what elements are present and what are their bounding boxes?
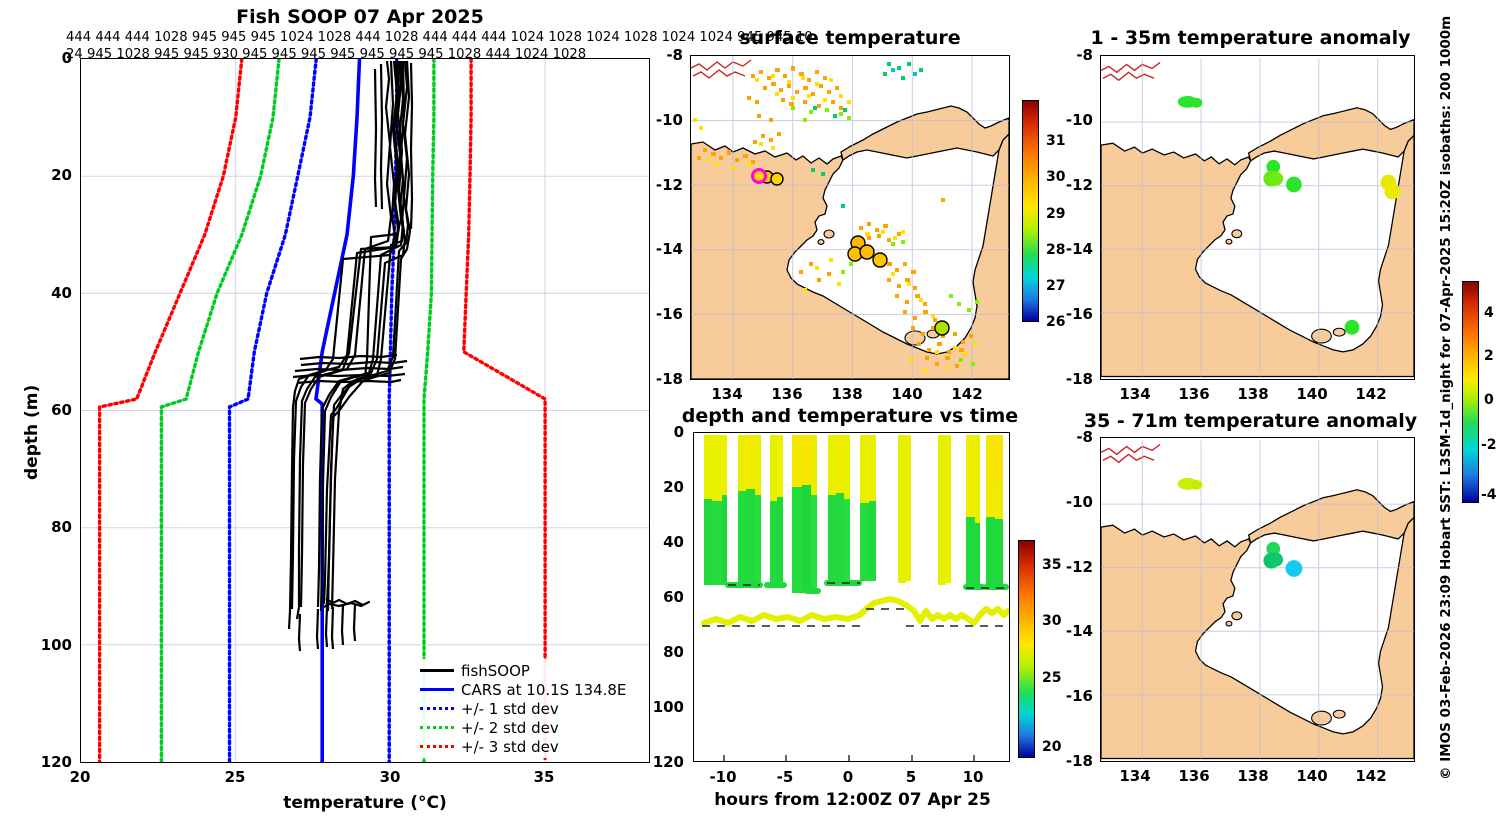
- anom-upper-ytick--10: -10: [1045, 111, 1093, 129]
- legend-item-std2: +/- 2 std dev: [420, 718, 638, 737]
- sst-panel-title: surface temperature: [690, 27, 1010, 49]
- depth-temperature-time-panel[interactable]: [693, 432, 1010, 762]
- time-xtick-10: 10: [956, 768, 990, 786]
- time-ytick-40: 40: [640, 533, 684, 551]
- time-ytick-60: 60: [640, 588, 684, 606]
- time-colorbar[interactable]: [1018, 540, 1035, 758]
- anomaly-upper-map: [1101, 56, 1414, 379]
- legend-item-std3: +/- 3 std dev: [420, 737, 638, 756]
- legend-key-std1: [420, 707, 454, 710]
- profile-ytick-20: 20: [34, 166, 72, 184]
- time-xlabel: hours from 12:00Z 07 Apr 25: [690, 790, 1015, 810]
- sst-colorbar[interactable]: [1022, 100, 1039, 322]
- page-title: Fish SOOP 07 Apr 2025: [120, 6, 600, 28]
- sst-ytick--10: -10: [635, 111, 683, 129]
- time-xtick--5: -5: [768, 768, 802, 786]
- anom-upper-title: 1 - 35m temperature anomaly: [1078, 27, 1423, 49]
- anom-cb-tick-0: 0: [1484, 392, 1494, 408]
- temperature-profile-panel[interactable]: fishSOOP CARS at 10.1S 134.8E +/- 1 std …: [80, 58, 650, 763]
- anom-lower-xtick-136: 136: [1177, 767, 1211, 785]
- sst-map: [691, 56, 1009, 379]
- anom-upper-xtick-138: 138: [1236, 385, 1270, 403]
- anom-upper-ytick--8: -8: [1055, 46, 1093, 64]
- anom-upper-xtick-140: 140: [1295, 385, 1329, 403]
- time-ytick-0: 0: [650, 423, 684, 441]
- sst-xtick-136: 136: [770, 385, 804, 403]
- legend-key-std2: [420, 726, 454, 729]
- anom-cb-tick-2: 2: [1484, 348, 1494, 364]
- time-ytick-20: 20: [640, 478, 684, 496]
- legend-item-fishsoop: fishSOOP: [420, 661, 638, 680]
- legend-label-std2: +/- 2 std dev: [461, 719, 559, 737]
- current-profile-marker: [753, 170, 766, 183]
- time-ytick-120: 120: [630, 753, 684, 771]
- legend-item-std1: +/- 1 std dev: [420, 699, 638, 718]
- profile-xtick-35: 35: [532, 768, 556, 786]
- anom-lower-xtick-134: 134: [1118, 767, 1152, 785]
- profile-xlabel: temperature (°C): [155, 793, 575, 813]
- time-panel-title: depth and temperature vs time: [660, 405, 1040, 427]
- legend-label-std1: +/- 1 std dev: [461, 700, 559, 718]
- profile-xtick-20: 20: [68, 768, 92, 786]
- time-ytick-80: 80: [640, 643, 684, 661]
- sst-ytick--12: -12: [635, 176, 683, 194]
- time-xtick-0: 0: [831, 768, 865, 786]
- profile-ylabel: depth (m): [22, 385, 42, 480]
- anom-lower-ytick--10: -10: [1045, 493, 1093, 511]
- anom-cb-tick-4: 4: [1484, 305, 1494, 321]
- anomaly-lower-map: [1101, 438, 1414, 761]
- legend-label-std3: +/- 3 std dev: [461, 738, 559, 756]
- sst-xtick-138: 138: [830, 385, 864, 403]
- time-xtick-5: 5: [894, 768, 928, 786]
- anom-lower-xtick-140: 140: [1295, 767, 1329, 785]
- anom-lower-ytick--12: -12: [1045, 558, 1093, 576]
- anom-upper-xtick-136: 136: [1177, 385, 1211, 403]
- credit-wrap: © IMOS 03-Feb-2026 23:09 Hobart SST: L3S…: [1438, 780, 1500, 796]
- sst-ytick--14: -14: [635, 240, 683, 258]
- profile-ylabel-wrap: depth (m): [22, 480, 117, 500]
- anomaly-colorbar[interactable]: [1462, 281, 1479, 503]
- anom-upper-xtick-142: 142: [1354, 385, 1388, 403]
- profile-ytick-40: 40: [34, 284, 72, 302]
- anom-cb-tick--2: -2: [1481, 437, 1497, 453]
- legend-item-cars: CARS at 10.1S 134.8E: [420, 680, 638, 699]
- sst-cb-tick-31: 31: [1046, 133, 1065, 149]
- time-depth-plot: [694, 433, 1009, 761]
- sst-ytick--18: -18: [635, 370, 683, 388]
- anom-lower-title: 35 - 71m temperature anomaly: [1078, 410, 1423, 432]
- profile-xtick-25: 25: [223, 768, 247, 786]
- anom-upper-ytick--16: -16: [1045, 305, 1093, 323]
- anom-lower-xtick-138: 138: [1236, 767, 1270, 785]
- profile-ytick-0: 0: [44, 49, 72, 67]
- profile-ytick-100: 100: [24, 636, 72, 654]
- sst-xtick-140: 140: [890, 385, 924, 403]
- legend-label-cars: CARS at 10.1S 134.8E: [461, 681, 626, 699]
- anom-upper-ytick--18: -18: [1045, 370, 1093, 388]
- sst-ytick--8: -8: [645, 46, 683, 64]
- anom-lower-ytick--18: -18: [1045, 752, 1093, 770]
- profile-ytick-120: 120: [24, 753, 72, 771]
- sst-xtick-142: 142: [950, 385, 984, 403]
- profile-xtick-30: 30: [378, 768, 402, 786]
- sst-cb-tick-27: 27: [1046, 278, 1065, 294]
- time-xtick--10: -10: [706, 768, 740, 786]
- anom-lower-ytick--14: -14: [1045, 622, 1093, 640]
- anomaly-1-35m-panel[interactable]: [1100, 55, 1415, 380]
- legend-label-fishsoop: fishSOOP: [461, 662, 530, 680]
- time-cb-tick-25: 25: [1042, 670, 1061, 686]
- anom-cb-tick--4: -4: [1481, 487, 1497, 503]
- sst-cb-tick-29: 29: [1046, 206, 1065, 222]
- anom-upper-ytick--14: -14: [1045, 240, 1093, 258]
- anomaly-35-71m-panel[interactable]: [1100, 437, 1415, 762]
- time-ytick-100: 100: [630, 698, 684, 716]
- anom-upper-ytick--12: -12: [1045, 176, 1093, 194]
- figure-credit: © IMOS 03-Feb-2026 23:09 Hobart SST: L3S…: [1438, 16, 1454, 780]
- legend-key-fishsoop: [420, 669, 454, 672]
- sst-xtick-134: 134: [710, 385, 744, 403]
- anom-upper-xtick-134: 134: [1118, 385, 1152, 403]
- anom-lower-xtick-142: 142: [1354, 767, 1388, 785]
- anom-lower-ytick--8: -8: [1055, 428, 1093, 446]
- sst-ytick--16: -16: [635, 305, 683, 323]
- surface-temperature-map-panel[interactable]: [690, 55, 1010, 380]
- legend-key-std3: [420, 745, 454, 748]
- anom-lower-ytick--16: -16: [1045, 687, 1093, 705]
- profile-plot: [81, 59, 649, 762]
- profile-ytick-80: 80: [34, 518, 72, 536]
- legend-key-cars: [420, 688, 454, 691]
- profile-legend: fishSOOP CARS at 10.1S 134.8E +/- 1 std …: [416, 659, 642, 758]
